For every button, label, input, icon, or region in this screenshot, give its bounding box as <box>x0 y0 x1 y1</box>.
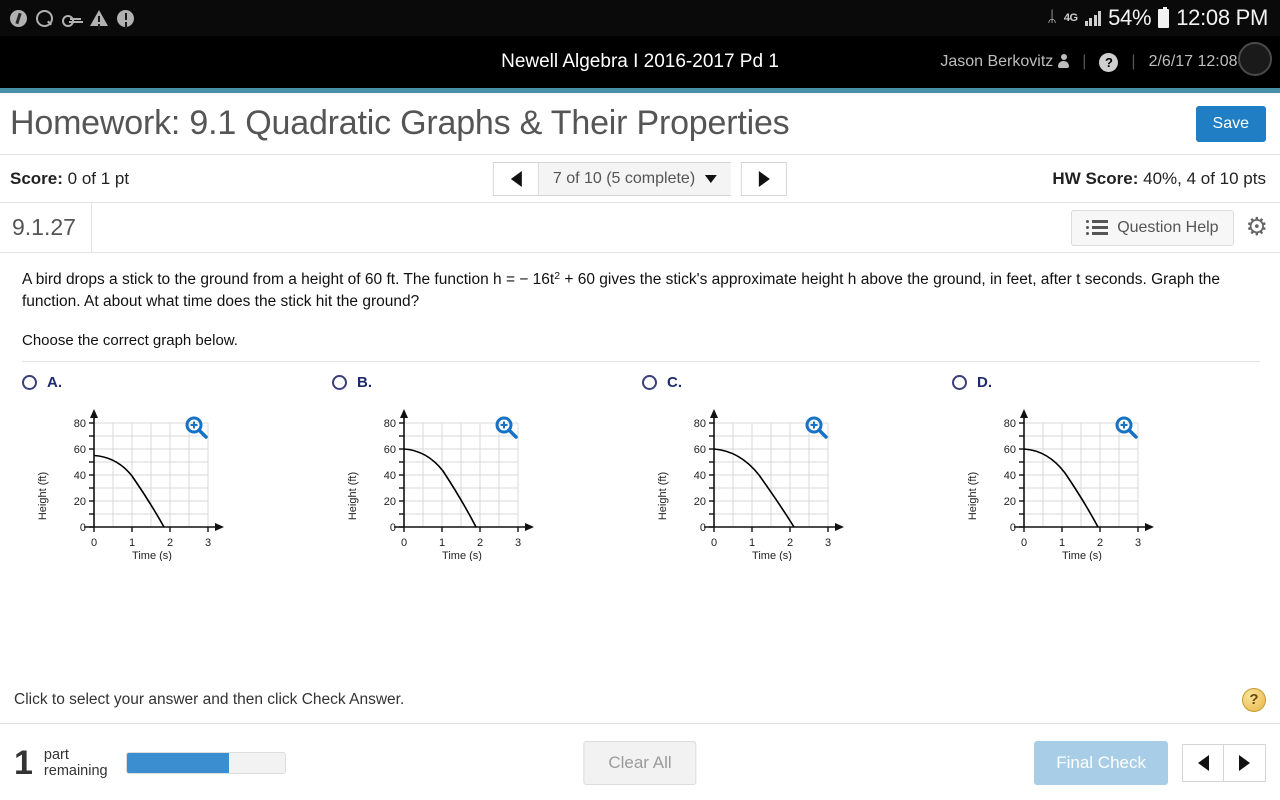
option-b[interactable]: B. Height (ft) <box>332 374 642 566</box>
warning-icon <box>90 10 108 26</box>
svg-text:3: 3 <box>515 537 521 549</box>
svg-text:40: 40 <box>694 470 706 482</box>
svg-text:Height (ft): Height (ft) <box>347 472 359 520</box>
question-body: A bird drops a stick to the ground from … <box>0 253 1280 362</box>
help-circle-icon[interactable]: ? <box>1099 53 1118 72</box>
radio-option-c[interactable] <box>642 375 657 390</box>
page-title: Homework: 9.1 Quadratic Graphs & Their P… <box>10 104 789 143</box>
svg-text:20: 20 <box>384 496 396 508</box>
option-a-label: A. <box>47 374 62 391</box>
question-score: Score: 0 of 1 pt <box>10 169 129 189</box>
answer-options: A. Height (ft) <box>0 362 1280 566</box>
radio-option-b[interactable] <box>332 375 347 390</box>
svg-text:80: 80 <box>74 418 86 430</box>
svg-text:60: 60 <box>694 444 706 456</box>
radio-option-d[interactable] <box>952 375 967 390</box>
graph-a: Height (ft) <box>22 401 322 561</box>
magnifier-plus-icon[interactable] <box>804 415 828 439</box>
svg-text:100: 100 <box>998 401 1016 404</box>
svg-text:20: 20 <box>1004 496 1016 508</box>
svg-text:80: 80 <box>384 418 396 430</box>
svg-text:60: 60 <box>1004 444 1016 456</box>
svg-text:80: 80 <box>1004 418 1016 430</box>
list-icon <box>1086 220 1108 236</box>
instruction-text: Click to select your answer and then cli… <box>14 691 404 709</box>
hw-score-value: 40%, 4 of 10 pts <box>1143 169 1266 188</box>
option-d[interactable]: D. Height (ft) <box>952 374 1262 566</box>
bottom-right-actions: Final Check <box>1034 741 1266 785</box>
question-help-label: Question Help <box>1117 219 1218 237</box>
compass-icon <box>10 10 27 27</box>
question-number: 9.1.27 <box>0 203 92 252</box>
question-text-part1: A bird drops a stick to the ground from … <box>22 271 554 288</box>
option-c-head: C. <box>642 374 952 391</box>
svg-text:Height (ft): Height (ft) <box>37 472 49 520</box>
assignment-title-row: Homework: 9.1 Quadratic Graphs & Their P… <box>0 93 1280 155</box>
battery-icon <box>1158 9 1169 28</box>
clear-all-button[interactable]: Clear All <box>583 741 696 785</box>
svg-text:Time (s): Time (s) <box>132 550 172 561</box>
bluetooth-icon: ᛦ <box>1047 10 1057 26</box>
chevron-right-icon <box>1239 755 1250 771</box>
bottom-action-bar: 1 part remaining Clear All Final Check <box>0 726 1280 800</box>
graph-b: Height (ft) <box>332 401 632 561</box>
svg-text:0: 0 <box>91 537 97 549</box>
option-c-label: C. <box>667 374 682 391</box>
app-header: Newell Algebra I 2016-2017 Pd 1 Jason Be… <box>0 36 1280 88</box>
battery-percent: 54% <box>1108 5 1151 31</box>
svg-text:Time (s): Time (s) <box>442 550 482 561</box>
question-pager: 7 of 10 (5 complete) <box>493 162 787 196</box>
chevron-left-icon <box>1198 755 1209 771</box>
user-menu[interactable]: Jason Berkovitz <box>940 53 1069 71</box>
question-select-value: 7 of 10 (5 complete) <box>553 170 695 188</box>
svg-text:3: 3 <box>825 537 831 549</box>
svg-text:0: 0 <box>1021 537 1027 549</box>
graph-c: Height (ft) <box>642 401 942 561</box>
svg-text:60: 60 <box>384 444 396 456</box>
progress-fill <box>127 753 230 773</box>
magnifier-plus-icon[interactable] <box>494 415 518 439</box>
progress-bar <box>126 752 286 774</box>
svg-text:Time (s): Time (s) <box>752 550 792 561</box>
svg-text:1: 1 <box>439 537 445 549</box>
svg-text:100: 100 <box>688 401 706 404</box>
question-number-row: 9.1.27 Question Help ⚙ <box>0 203 1280 253</box>
option-b-label: B. <box>357 374 372 391</box>
search-q-icon <box>36 10 53 27</box>
svg-text:0: 0 <box>390 522 396 534</box>
choose-prompt: Choose the correct graph below. <box>22 332 1260 362</box>
parts-count: 1 <box>14 746 33 780</box>
svg-text:0: 0 <box>401 537 407 549</box>
header-divider-2: | <box>1131 53 1135 71</box>
parts-label-line1: part <box>44 747 69 763</box>
svg-text:60: 60 <box>74 444 86 456</box>
svg-text:40: 40 <box>74 470 86 482</box>
previous-button[interactable] <box>1182 744 1224 782</box>
user-name: Jason Berkovitz <box>940 53 1053 70</box>
question-help-button[interactable]: Question Help <box>1071 210 1233 246</box>
exclamation-icon <box>117 10 134 27</box>
chevron-right-icon <box>759 171 770 187</box>
svg-text:0: 0 <box>711 537 717 549</box>
option-a-head: A. <box>22 374 332 391</box>
svg-text:40: 40 <box>1004 470 1016 482</box>
signal-bars-icon <box>1085 11 1102 26</box>
option-d-label: D. <box>977 374 992 391</box>
radio-option-a[interactable] <box>22 375 37 390</box>
svg-text:0: 0 <box>80 522 86 534</box>
option-c-graph-wrap: Height (ft) <box>642 401 952 566</box>
svg-text:2: 2 <box>167 537 173 549</box>
svg-text:2: 2 <box>1097 537 1103 549</box>
parts-remaining: 1 part remaining <box>14 746 286 780</box>
instruction-bar: Click to select your answer and then cli… <box>0 676 1280 724</box>
status-bar-right-icons: ᛦ 4G 54% 12:08 PM <box>1047 5 1268 31</box>
android-status-bar: ᛦ 4G 54% 12:08 PM <box>0 0 1280 36</box>
avatar[interactable] <box>1238 42 1272 76</box>
save-button[interactable]: Save <box>1196 106 1266 142</box>
svg-text:Height (ft): Height (ft) <box>657 472 669 520</box>
svg-text:1: 1 <box>749 537 755 549</box>
svg-text:20: 20 <box>694 496 706 508</box>
next-button[interactable] <box>1224 744 1266 782</box>
header-divider-1: | <box>1082 53 1086 71</box>
svg-text:Time (s): Time (s) <box>1062 550 1102 561</box>
prev-question-button[interactable] <box>493 162 539 196</box>
svg-text:40: 40 <box>384 470 396 482</box>
option-c[interactable]: C. Height (ft) <box>642 374 952 566</box>
parts-label: part remaining <box>44 747 108 779</box>
final-check-button[interactable]: Final Check <box>1034 741 1168 785</box>
help-badge-icon[interactable]: ? <box>1242 688 1266 712</box>
homework-score: HW Score: 40%, 4 of 10 pts <box>1052 169 1266 189</box>
svg-text:3: 3 <box>205 537 211 549</box>
score-row: Score: 0 of 1 pt 7 of 10 (5 complete) HW… <box>0 155 1280 203</box>
network-4g-icon: 4G <box>1064 12 1078 24</box>
svg-text:2: 2 <box>787 537 793 549</box>
svg-text:2: 2 <box>477 537 483 549</box>
magnifier-plus-icon[interactable] <box>1114 415 1138 439</box>
app-header-right: Jason Berkovitz | ? | 2/6/17 12:08 PM <box>940 53 1266 72</box>
person-icon <box>1058 54 1069 68</box>
svg-text:20: 20 <box>74 496 86 508</box>
svg-text:100: 100 <box>378 401 396 404</box>
hw-score-label: HW Score: <box>1052 169 1138 188</box>
status-bar-clock: 12:08 PM <box>1176 5 1268 31</box>
question-text: A bird drops a stick to the ground from … <box>22 269 1260 313</box>
option-d-head: D. <box>952 374 1262 391</box>
svg-text:3: 3 <box>1135 537 1141 549</box>
magnifier-plus-icon[interactable] <box>184 415 208 439</box>
svg-text:0: 0 <box>1010 522 1016 534</box>
next-question-button[interactable] <box>741 162 787 196</box>
svg-text:100: 100 <box>68 401 86 404</box>
svg-text:80: 80 <box>694 418 706 430</box>
question-row-actions: Question Help ⚙ <box>1071 210 1268 246</box>
option-d-graph-wrap: Height (ft) <box>952 401 1262 566</box>
graph-d: Height (ft) <box>952 401 1252 561</box>
vpn-key-icon <box>62 10 81 27</box>
option-a-graph-wrap: Height (ft) <box>22 401 332 566</box>
parts-label-line2: remaining <box>44 763 108 779</box>
svg-text:1: 1 <box>129 537 135 549</box>
svg-text:0: 0 <box>700 522 706 534</box>
chevron-down-icon <box>705 175 717 183</box>
option-a[interactable]: A. Height (ft) <box>22 374 332 566</box>
chevron-left-icon <box>510 171 521 187</box>
question-select-dropdown[interactable]: 7 of 10 (5 complete) <box>539 162 731 196</box>
option-b-graph-wrap: Height (ft) <box>332 401 642 566</box>
option-b-head: B. <box>332 374 642 391</box>
svg-text:Height (ft): Height (ft) <box>967 472 979 520</box>
gear-icon[interactable]: ⚙ <box>1246 215 1268 240</box>
score-value: 0 of 1 pt <box>68 169 129 188</box>
score-label: Score: <box>10 169 63 188</box>
svg-text:1: 1 <box>1059 537 1065 549</box>
status-bar-left-icons <box>10 10 134 27</box>
